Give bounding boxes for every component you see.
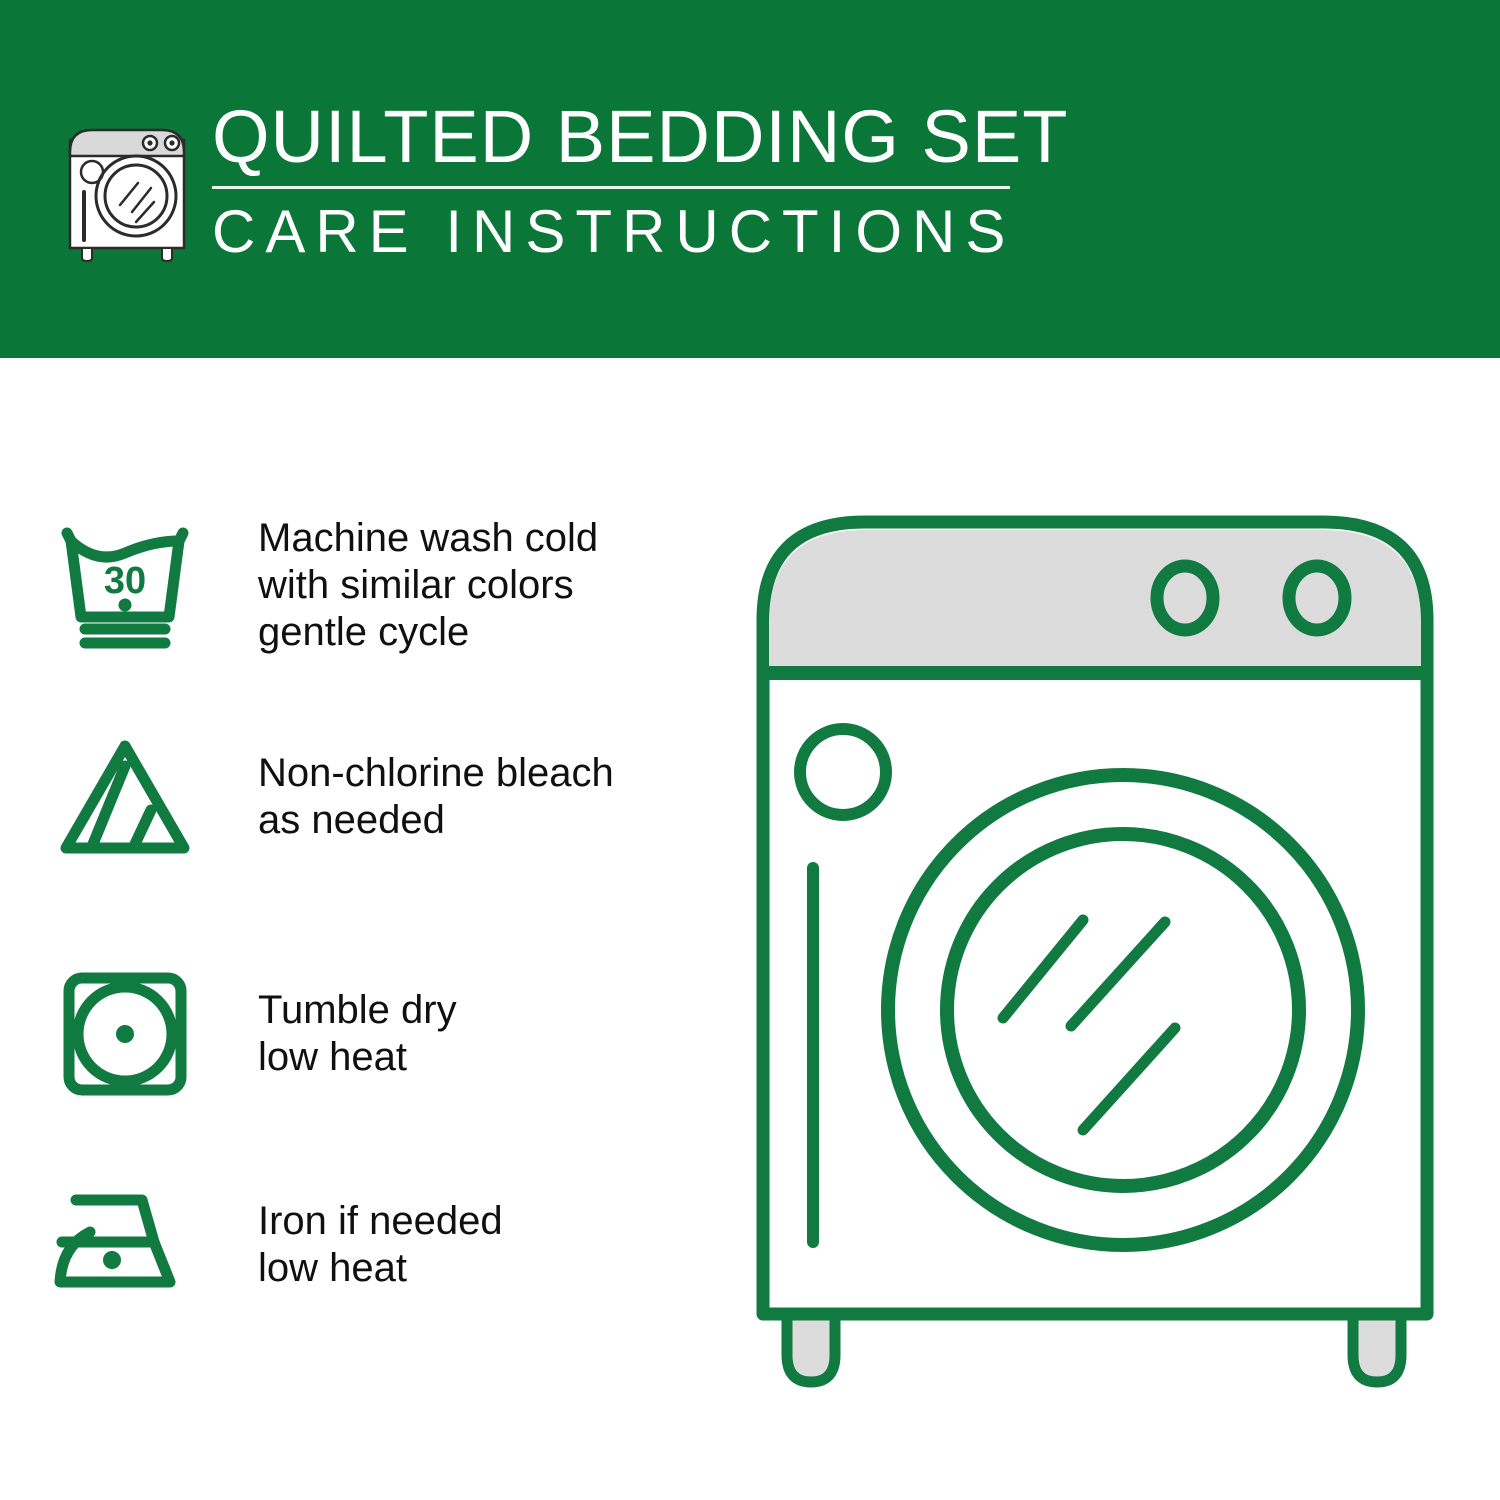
instruction-text: Iron if needed low heat	[250, 1198, 503, 1292]
instruction-line: Non-chlorine bleach	[258, 750, 614, 797]
list-item: Non-chlorine bleach as needed	[0, 732, 614, 862]
instruction-line: with similar colors	[258, 562, 598, 609]
instruction-line: Machine wash cold	[258, 515, 598, 562]
front-load-washing-machine-illustration	[745, 500, 1445, 1430]
instruction-text: Non-chlorine bleach as needed	[250, 750, 614, 844]
tumble-dry-low-heat-icon	[0, 968, 250, 1100]
page-title: QUILTED BEDDING SET	[212, 96, 1032, 178]
iron-low-heat-icon	[0, 1190, 250, 1300]
instruction-text: Machine wash cold with similar colors ge…	[250, 515, 598, 656]
non-chlorine-bleach-triangle-icon	[0, 732, 250, 862]
wash-temperature-label: 30	[104, 560, 146, 602]
instruction-line: low heat	[258, 1245, 503, 1292]
instruction-line: Iron if needed	[258, 1198, 503, 1245]
instruction-line: gentle cycle	[258, 609, 598, 656]
instruction-line: as needed	[258, 797, 614, 844]
control-panel	[769, 530, 1421, 670]
wash-tub-30-gentle-icon: 30	[0, 521, 250, 651]
instruction-line: low heat	[258, 1034, 457, 1081]
instruction-text: Tumble dry low heat	[250, 987, 457, 1081]
header-text-block: QUILTED BEDDING SET CARE INSTRUCTIONS	[212, 96, 1032, 266]
list-item: 30 Machine wash cold with similar colors…	[0, 515, 598, 656]
page-subtitle: CARE INSTRUCTIONS	[212, 198, 1032, 266]
washing-machine-icon	[62, 104, 192, 262]
title-divider	[212, 186, 1010, 189]
list-item: Iron if needed low heat	[0, 1190, 503, 1300]
instruction-line: Tumble dry	[258, 987, 457, 1034]
header-band: QUILTED BEDDING SET CARE INSTRUCTIONS	[0, 0, 1500, 358]
list-item: Tumble dry low heat	[0, 968, 457, 1100]
